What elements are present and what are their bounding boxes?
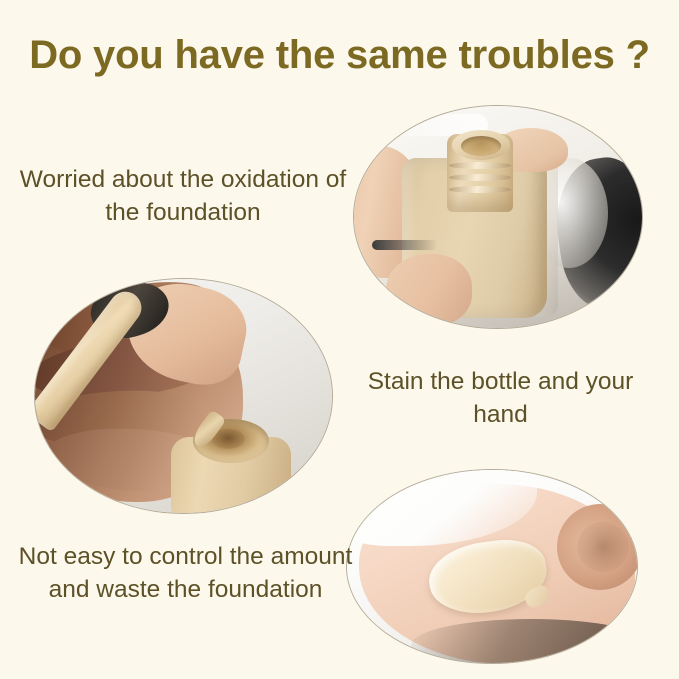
photo-foundation-blob-on-hand: [347, 470, 637, 663]
photo-open-foundation-bottle: [354, 106, 642, 328]
neck-thread: [449, 186, 511, 193]
photo-scene-open-bottle: [354, 106, 642, 328]
caption-stain: Stain the bottle and your hand: [358, 365, 643, 432]
photo-dropper-over-bottle: [35, 279, 332, 513]
neck-thread: [449, 174, 511, 181]
thumb-bottom: [386, 254, 472, 326]
photo-scene-blob: [347, 470, 637, 663]
thumb-shadow: [577, 522, 629, 572]
caption-waste: Not easy to control the amount and waste…: [18, 540, 353, 607]
photo-scene-dropper: [35, 279, 332, 513]
shadow-streak: [372, 240, 438, 250]
bottle-opening: [461, 136, 501, 156]
caption-oxidation: Worried about the oxidation of the found…: [8, 163, 358, 230]
infographic-poster: Do you have the same troubles ?: [0, 0, 679, 679]
page-title: Do you have the same troubles ?: [0, 33, 679, 78]
neck-thread: [449, 162, 511, 169]
